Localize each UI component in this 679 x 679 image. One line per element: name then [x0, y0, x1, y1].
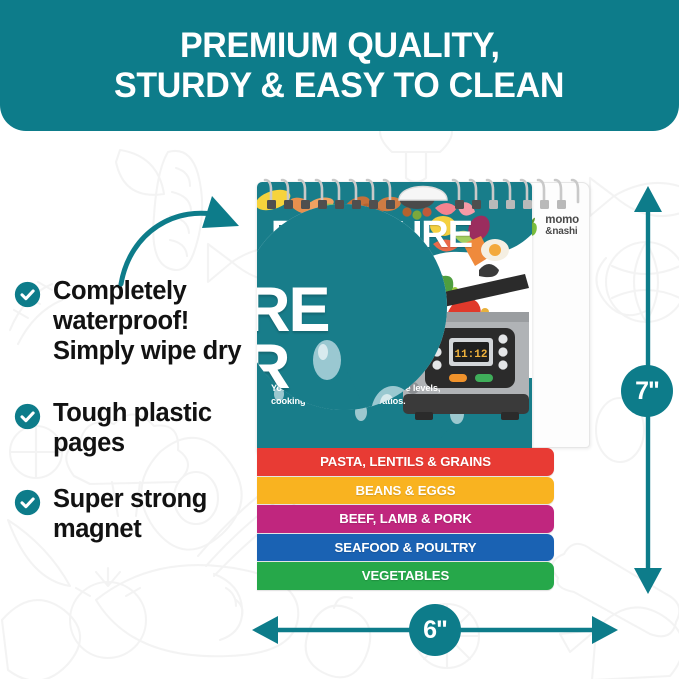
- product-feature-graphic: PREMIUM QUALITY, STURDY & EASY TO CLEAN …: [0, 0, 679, 679]
- width-dimension-label: 6": [423, 616, 447, 645]
- header-headline-line1: PREMIUM QUALITY,: [180, 26, 500, 65]
- lens-title-line2: R: [257, 339, 329, 396]
- lens-magnified-title: RE R: [257, 282, 329, 395]
- category-tab-seafood[interactable]: SEAFOOD & POULTRY: [257, 534, 554, 562]
- width-dimension-badge: 6": [409, 604, 461, 656]
- check-circle-icon: [14, 403, 41, 430]
- feature-label: Tough plastic pages: [53, 398, 246, 458]
- feature-label: Super strong magnet: [53, 484, 246, 544]
- cooker-display-time: 11:12: [454, 349, 487, 361]
- category-tab-beans[interactable]: BEANS & EGGS: [257, 477, 554, 505]
- brand-name: momo &nashi: [545, 215, 579, 236]
- check-circle-icon: [14, 281, 41, 308]
- category-tab-label: BEANS & EGGS: [356, 483, 456, 498]
- category-tab-vegetables[interactable]: VEGETABLES: [257, 562, 554, 590]
- check-circle-icon: [14, 489, 41, 516]
- category-tab-label: VEGETABLES: [362, 568, 449, 583]
- category-tab-pasta[interactable]: PASTA, LENTILS & GRAINS: [257, 448, 554, 476]
- water-droplet-magnifier: RE R re levels,: [257, 204, 447, 410]
- feature-item-tough-pages: Tough plastic pages: [14, 398, 246, 458]
- brand-name-line2: &nashi: [545, 227, 579, 237]
- category-tabs: PASTA, LENTILS & GRAINS BEANS & EGGS BEE…: [257, 448, 554, 591]
- category-tab-label: BEEF, LAMB & PORK: [339, 511, 471, 526]
- height-dimension-label: 7": [635, 377, 659, 406]
- category-tab-label: PASTA, LENTILS & GRAINS: [320, 454, 491, 469]
- curved-arrow-icon: [118, 188, 278, 300]
- header-headline-line2: STURDY & EASY TO CLEAN: [114, 66, 564, 105]
- category-tab-label: SEAFOOD & POULTRY: [335, 540, 477, 555]
- category-tab-beef[interactable]: BEEF, LAMB & PORK: [257, 505, 554, 533]
- height-dimension-badge: 7": [621, 365, 673, 417]
- header-banner: PREMIUM QUALITY, STURDY & EASY TO CLEAN: [0, 0, 679, 131]
- feature-list: Completely waterproof! Simply wipe dry T…: [14, 276, 246, 571]
- flipbook-cover: 11:12: [257, 182, 532, 454]
- flipbook-product: momo &nashi: [257, 176, 590, 594]
- lens-title-line1: RE: [257, 282, 329, 339]
- feature-item-magnet: Super strong magnet: [14, 484, 246, 544]
